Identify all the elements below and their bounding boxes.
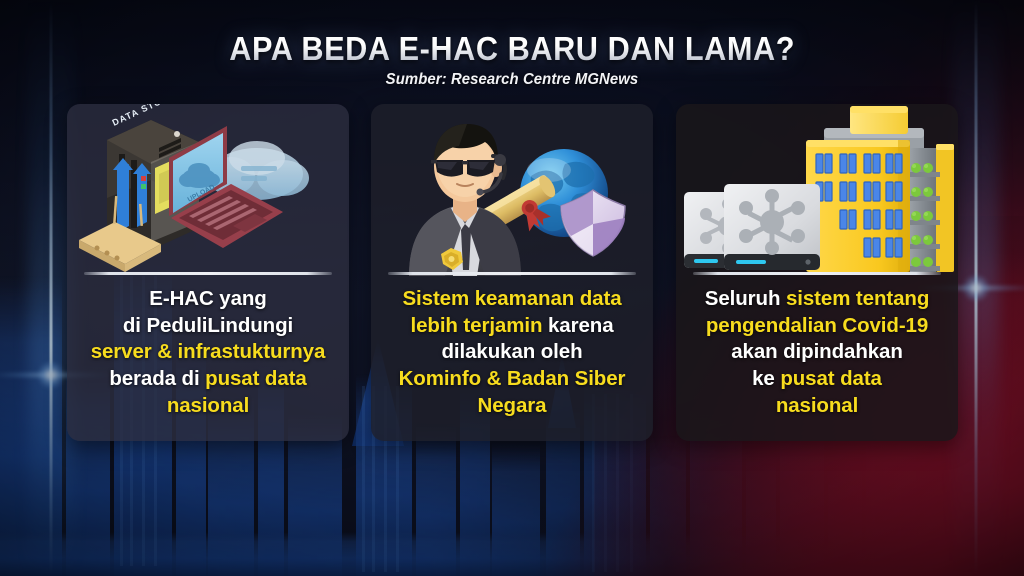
text-run-highlight: Sistem keamanan data [402, 287, 621, 310]
text-run: karena [548, 314, 614, 337]
text-run-highlight: pusat data [205, 367, 307, 390]
text-run-highlight: Kominfo & Badan Siber [399, 367, 626, 390]
infographic-canvas: APA BEDA E-HAC BARU DAN LAMA? Sumber: Re… [0, 0, 1024, 576]
text-run-highlight: lebih terjamin [411, 314, 548, 337]
page-subtitle: Sumber: Research Centre MGNews [20, 71, 1003, 89]
text-run-highlight: pengendalian Covid-19 [706, 314, 928, 337]
text-run-highlight: pusat data [780, 367, 882, 390]
card-divider [693, 272, 941, 275]
text-run: akan dipindahkan [731, 340, 903, 363]
card-security[interactable]: Sistem keamanan data lebih terjamin kare… [371, 104, 653, 441]
text-run-highlight: nasional [776, 394, 858, 417]
text-run: dilakukan oleh [442, 340, 583, 363]
text-run: berada di [109, 367, 205, 390]
card-text: Sistem keamanan data lebih terjamin kare… [379, 286, 645, 419]
page-title: APA BEDA E-HAC BARU DAN LAMA? [229, 32, 795, 65]
text-run-highlight: nasional [167, 394, 249, 417]
card-divider [84, 272, 332, 275]
card-text: Seluruh sistem tentang pengendalian Covi… [684, 286, 950, 419]
datacenter-servers-building-icon [676, 104, 958, 272]
header: APA BEDA E-HAC BARU DAN LAMA? Sumber: Re… [0, 32, 1024, 89]
card-text: E-HAC yang di PeduliLindungi server & in… [75, 286, 341, 419]
text-run-highlight: Negara [478, 394, 547, 417]
card-datacenter[interactable]: Seluruh sistem tentang pengendalian Covi… [676, 104, 958, 441]
card-divider [388, 272, 636, 275]
comparison-cards: DATA STORAGE [0, 104, 1024, 444]
text-run: di PeduliLindungi [123, 314, 293, 337]
text-run: ke [752, 367, 780, 390]
data-storage-server-cloud-laptop-icon: DATA STORAGE [67, 104, 349, 272]
security-agent-globe-shield-certificate-icon [371, 108, 653, 276]
card-data-storage[interactable]: DATA STORAGE [67, 104, 349, 441]
text-run: E-HAC yang [149, 287, 266, 310]
text-run: Seluruh [705, 287, 786, 310]
text-run-highlight: sistem tentang [786, 287, 929, 310]
text-run-highlight: server & infrastukturnya [91, 340, 326, 363]
